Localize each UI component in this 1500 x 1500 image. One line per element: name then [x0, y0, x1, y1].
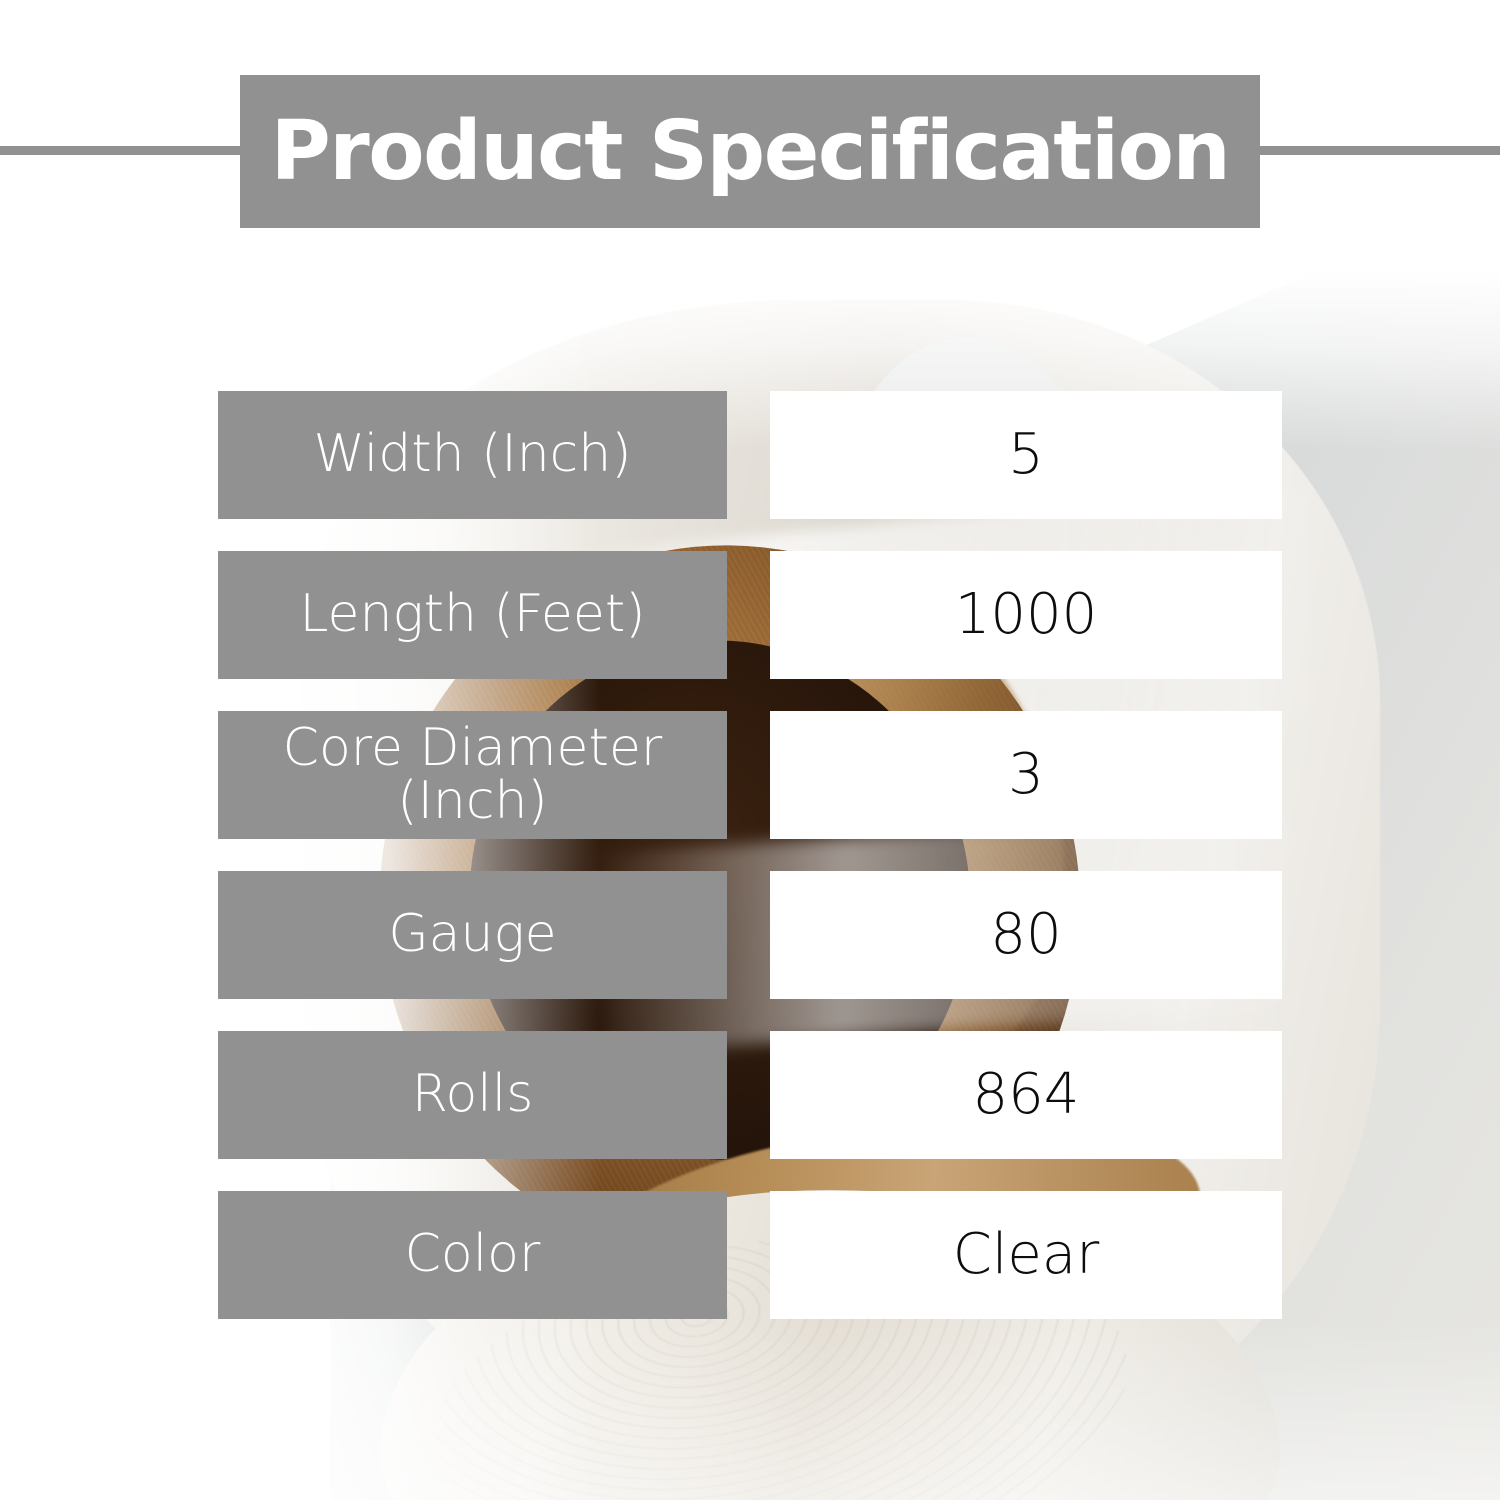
spec-value-cell: 5	[770, 391, 1282, 519]
spec-value-text: 1000	[955, 587, 1098, 643]
spec-label-cell: Rolls	[218, 1031, 727, 1159]
spec-value-text: 3	[1008, 747, 1044, 803]
spec-value-text: Clear	[953, 1227, 1099, 1283]
spec-label-cell: Width (Inch)	[218, 391, 727, 519]
spec-label-text: Length (Feet)	[299, 588, 645, 641]
spec-label-text: Color	[405, 1228, 541, 1281]
spec-value-text: 5	[1008, 427, 1044, 483]
spec-value-cell: 3	[770, 711, 1282, 839]
table-row: Rolls 864	[218, 1031, 1282, 1159]
table-row: Length (Feet) 1000	[218, 551, 1282, 679]
header-banner: Product Specification	[240, 75, 1260, 228]
spec-label-text: Gauge	[388, 908, 556, 961]
table-row: Core Diameter (Inch) 3	[218, 711, 1282, 839]
spec-label-cell: Color	[218, 1191, 727, 1319]
spec-label-cell: Length (Feet)	[218, 551, 727, 679]
product-specification-graphic: Product Specification Width (Inch) 5 Len…	[0, 0, 1500, 1500]
table-row: Gauge 80	[218, 871, 1282, 999]
spec-value-text: 80	[990, 907, 1061, 963]
table-row: Color Clear	[218, 1191, 1282, 1319]
specification-table: Width (Inch) 5 Length (Feet) 1000 Core D…	[218, 391, 1282, 1319]
page-title: Product Specification	[271, 111, 1230, 193]
spec-value-cell: 1000	[770, 551, 1282, 679]
spec-value-cell: 864	[770, 1031, 1282, 1159]
spec-label-cell: Core Diameter (Inch)	[218, 711, 727, 839]
spec-label-text: Rolls	[412, 1068, 534, 1121]
spec-value-cell: Clear	[770, 1191, 1282, 1319]
spec-label-text: Width (Inch)	[313, 428, 631, 481]
spec-value-cell: 80	[770, 871, 1282, 999]
table-row: Width (Inch) 5	[218, 391, 1282, 519]
spec-label-text: Core Diameter (Inch)	[283, 722, 663, 828]
spec-value-text: 864	[973, 1067, 1080, 1123]
spec-label-cell: Gauge	[218, 871, 727, 999]
